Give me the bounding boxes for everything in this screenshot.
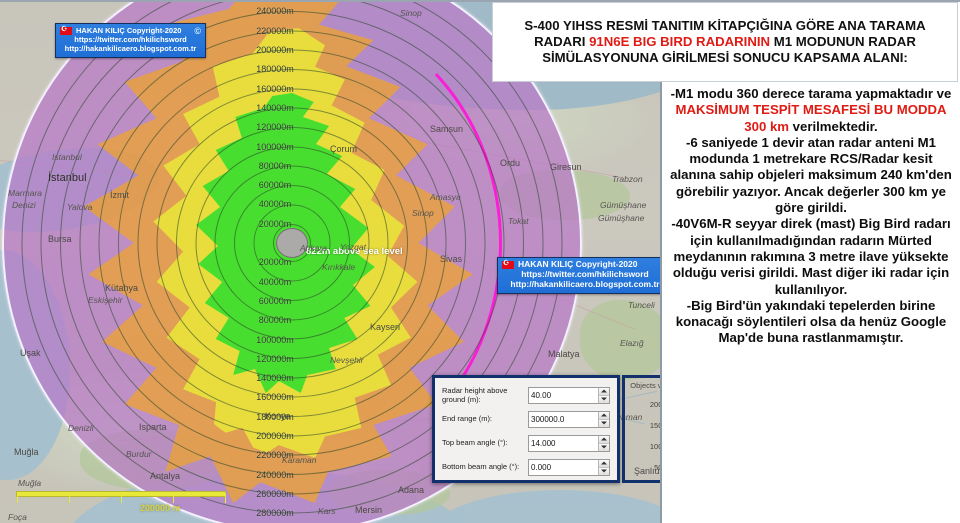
dialog-field-input[interactable] xyxy=(529,412,598,427)
spinner-buttons[interactable] xyxy=(598,388,609,403)
annotation-paragraph-1: -M1 modu 360 derece tarama yapmaktadır v… xyxy=(669,86,953,135)
screenshot-root: 20000m40000m60000m80000m100000m120000m14… xyxy=(0,0,960,523)
spinner-down-icon[interactable] xyxy=(599,444,609,452)
spinner-up-icon[interactable] xyxy=(599,388,609,396)
dialog-field-label: Top beam angle (°): xyxy=(442,439,528,447)
dialog-field-row: Radar height above ground (m): xyxy=(442,384,610,407)
copyright-icon: © xyxy=(194,26,201,36)
dialog-field-row: End range (m): xyxy=(442,408,610,431)
dialog-field-row: Bottom beam angle (°): xyxy=(442,456,610,479)
map-scale-label: 200000 m xyxy=(140,503,181,513)
spinner-down-icon[interactable] xyxy=(599,396,609,404)
dialog-field-spinner-2[interactable] xyxy=(528,435,610,452)
legend-row: 10000m xyxy=(623,436,660,456)
spinner-buttons[interactable] xyxy=(598,460,609,475)
spinner-buttons[interactable] xyxy=(598,436,609,451)
dialog-field-spinner-1[interactable] xyxy=(528,411,610,428)
radar-site-altitude-label: 822m above sea level xyxy=(306,246,403,257)
annotation-body: -M1 modu 360 derece tarama yapmaktadır v… xyxy=(662,84,960,521)
coverage-legend: Objects visible at 20000m15000m10000m500… xyxy=(622,375,660,483)
annotation-body-text: -M1 modu 360 derece tarama yapmaktadır v… xyxy=(669,86,953,347)
title-line-2-post: M1 MODUNUN RADAR xyxy=(770,34,916,49)
dialog-field-label: Radar height above ground (m): xyxy=(442,387,528,404)
spinner-up-icon[interactable] xyxy=(599,460,609,468)
title-line-3: SİMÜLASYONUNA GİRİLMESİ SONUCU KAPSAMA A… xyxy=(524,50,925,66)
dialog-field-spinner-3[interactable] xyxy=(528,459,610,476)
legend-level-label: 10000m xyxy=(650,442,660,451)
legend-title: Objects visible at xyxy=(627,381,660,390)
top-frame-border xyxy=(0,0,960,2)
legend-level-label: 15000m xyxy=(650,421,660,430)
legend-row: 5000m xyxy=(623,457,660,477)
annotation-paragraph-3: -40V6M-R seyyar direk (mast) Big Bird ra… xyxy=(669,216,953,297)
title-line-1: S-400 YIHSS RESMİ TANITIM KİTAPÇIĞINA GÖ… xyxy=(524,18,925,34)
spinner-down-icon[interactable] xyxy=(599,468,609,476)
terrain-green-2 xyxy=(500,170,630,220)
p1-part-a: -M1 modu 360 derece tarama yapmaktadır v… xyxy=(671,86,952,101)
p1-part-b: verilmektedir. xyxy=(789,119,878,134)
watermark-author: HAKAN KILIÇ Copyright-2020 xyxy=(76,27,181,36)
turkish-flag-icon xyxy=(60,27,72,35)
spinner-down-icon[interactable] xyxy=(599,420,609,428)
spinner-up-icon[interactable] xyxy=(599,412,609,420)
spinner-buttons[interactable] xyxy=(598,412,609,427)
spinner-up-icon[interactable] xyxy=(599,436,609,444)
legend-row: 20000m xyxy=(623,394,660,414)
watermark-center: HAKAN KILIÇ Copyright-2020 © https://twi… xyxy=(497,257,660,294)
dialog-field-spinner-0[interactable] xyxy=(528,387,610,404)
title-banner: S-400 YIHSS RESMİ TANITIM KİTAPÇIĞINA GÖ… xyxy=(492,2,958,82)
radar-parameters-dialog[interactable]: Radar height above ground (m):End range … xyxy=(432,375,620,483)
title-line-2-pre: RADARI xyxy=(534,34,589,49)
radar-site-marker xyxy=(276,228,308,258)
dialog-field-input[interactable] xyxy=(529,436,598,451)
legend-level-label: 20000m xyxy=(650,400,660,409)
watermark-blog-url: http://hakankilicaero.blogspot.com.tr xyxy=(502,280,660,290)
annotation-paragraph-2: -6 saniyede 1 devir atan radar anteni M1… xyxy=(669,135,953,216)
title-text: S-400 YIHSS RESMİ TANITIM KİTAPÇIĞINA GÖ… xyxy=(524,18,925,66)
legend-row: 15000m xyxy=(623,415,660,435)
dialog-field-row: Top beam angle (°): xyxy=(442,432,610,455)
dialog-field-input[interactable] xyxy=(529,388,598,403)
watermark-blog-url: http://hakankilicaero.blogspot.com.tr xyxy=(60,45,201,54)
turkish-flag-icon xyxy=(502,261,514,269)
dialog-field-label: Bottom beam angle (°): xyxy=(442,463,528,471)
map-scale-bar xyxy=(16,491,226,497)
title-line-2-highlight: 91N6E BIG BIRD RADARININ xyxy=(589,34,770,49)
title-line-2: RADARI 91N6E BIG BIRD RADARININ M1 MODUN… xyxy=(524,34,925,50)
terrain-green-1 xyxy=(80,430,230,490)
dialog-field-label: End range (m): xyxy=(442,415,528,423)
dialog-field-input[interactable] xyxy=(529,460,598,475)
watermark-top-left: HAKAN KILIÇ Copyright-2020 © https://twi… xyxy=(55,23,206,58)
annotation-paragraph-4: -Big Bird'ün yakındaki tepelerden birine… xyxy=(669,298,953,347)
